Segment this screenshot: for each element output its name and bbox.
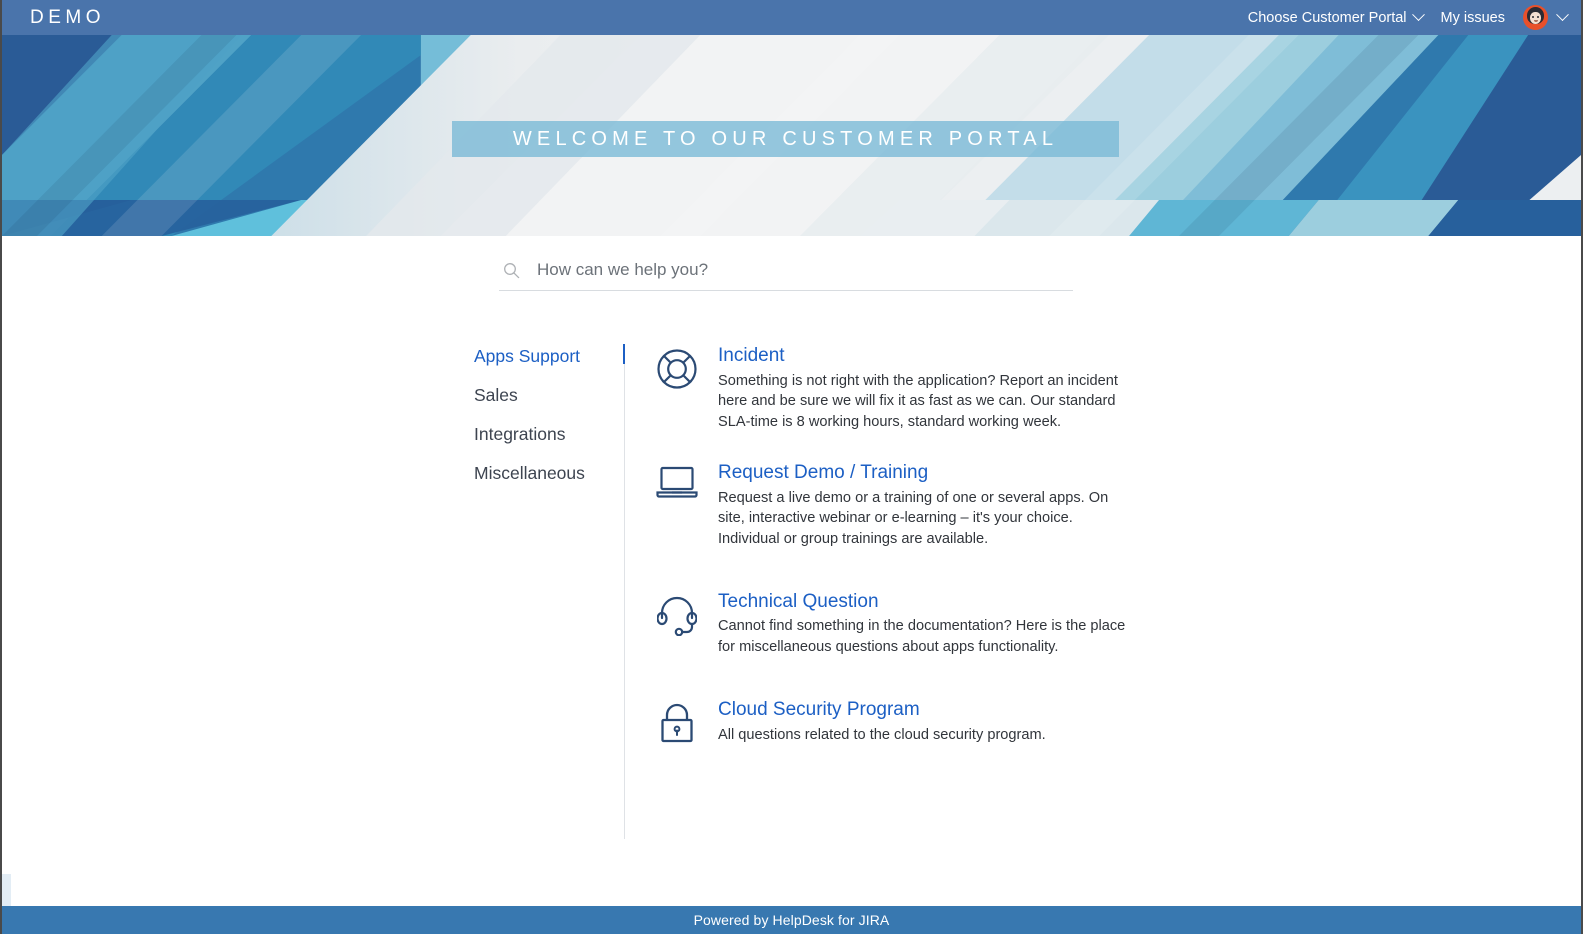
chevron-down-icon	[1412, 8, 1425, 21]
browser-window: DEMO Choose Customer Portal My issues	[0, 0, 1583, 934]
request-type-request-demo-training[interactable]: Request Demo / Training Request a live d…	[655, 461, 1145, 550]
hero-banner: WELCOME TO OUR CUSTOMER PORTAL	[2, 35, 1581, 236]
sidebar-item-miscellaneous[interactable]: Miscellaneous	[472, 465, 624, 504]
footer-bar: Powered by HelpDesk for JIRA	[2, 906, 1581, 934]
search-input[interactable]	[537, 260, 1069, 280]
request-title[interactable]: Request Demo / Training	[718, 461, 1136, 485]
footer-credit-text[interactable]: Powered by HelpDesk for JIRA	[694, 912, 890, 928]
top-navigation-right-group: Choose Customer Portal My issues	[1248, 5, 1567, 30]
top-navigation-bar: DEMO Choose Customer Portal My issues	[2, 0, 1581, 35]
request-title[interactable]: Cloud Security Program	[718, 698, 1046, 722]
headset-icon	[657, 594, 697, 636]
request-description: Something is not right with the applicat…	[718, 371, 1136, 433]
request-type-list: Incident Something is not right with the…	[625, 344, 1145, 839]
user-avatar-icon	[1523, 5, 1548, 30]
category-label: Miscellaneous	[474, 463, 585, 483]
sidebar-item-apps-support[interactable]: Apps Support	[472, 348, 624, 387]
my-issues-label: My issues	[1441, 10, 1505, 26]
request-title[interactable]: Incident	[718, 344, 1136, 368]
lifebuoy-icon	[656, 348, 698, 390]
column-divider	[624, 344, 625, 839]
request-icon-wrap	[655, 698, 699, 745]
request-description: All questions related to the cloud secur…	[718, 725, 1046, 746]
welcome-banner-text: WELCOME TO OUR CUSTOMER PORTAL	[513, 128, 1058, 151]
main-content: Apps Support Sales Integrations Miscella…	[2, 236, 1581, 906]
request-text-wrap: Technical Question Cannot find something…	[718, 590, 1136, 658]
choose-customer-portal-dropdown[interactable]: Choose Customer Portal	[1248, 10, 1423, 26]
my-issues-link[interactable]: My issues	[1441, 10, 1505, 26]
profile-menu[interactable]	[1523, 5, 1567, 30]
chevron-down-icon	[1556, 8, 1569, 21]
request-icon-wrap	[655, 461, 699, 550]
sidebar-item-integrations[interactable]: Integrations	[472, 426, 624, 465]
category-label: Sales	[474, 385, 518, 405]
category-label: Apps Support	[474, 346, 580, 366]
choose-customer-portal-label: Choose Customer Portal	[1248, 10, 1407, 26]
request-description: Request a live demo or a training of one…	[718, 488, 1136, 550]
request-title[interactable]: Technical Question	[718, 590, 1136, 614]
category-label: Integrations	[474, 424, 565, 444]
request-icon-wrap	[655, 344, 699, 433]
search-bar[interactable]	[499, 260, 1073, 291]
request-icon-wrap	[655, 590, 699, 658]
category-list: Apps Support Sales Integrations Miscella…	[472, 344, 624, 839]
request-text-wrap: Cloud Security Program All questions rel…	[718, 698, 1046, 745]
portal-body: Apps Support Sales Integrations Miscella…	[472, 344, 1145, 839]
footer-accent-strip	[2, 874, 11, 906]
request-text-wrap: Incident Something is not right with the…	[718, 344, 1136, 433]
padlock-icon	[658, 702, 696, 744]
request-type-cloud-security-program[interactable]: Cloud Security Program All questions rel…	[655, 698, 1145, 745]
active-category-indicator	[623, 344, 625, 364]
brand-logo[interactable]: DEMO	[30, 7, 105, 29]
search-icon	[503, 262, 520, 279]
welcome-banner-bar: WELCOME TO OUR CUSTOMER PORTAL	[452, 121, 1119, 157]
sidebar-item-sales[interactable]: Sales	[472, 387, 624, 426]
request-type-technical-question[interactable]: Technical Question Cannot find something…	[655, 590, 1145, 658]
request-description: Cannot find something in the documentati…	[718, 616, 1136, 657]
laptop-icon	[656, 465, 698, 501]
request-text-wrap: Request Demo / Training Request a live d…	[718, 461, 1136, 550]
request-type-incident[interactable]: Incident Something is not right with the…	[655, 344, 1145, 433]
